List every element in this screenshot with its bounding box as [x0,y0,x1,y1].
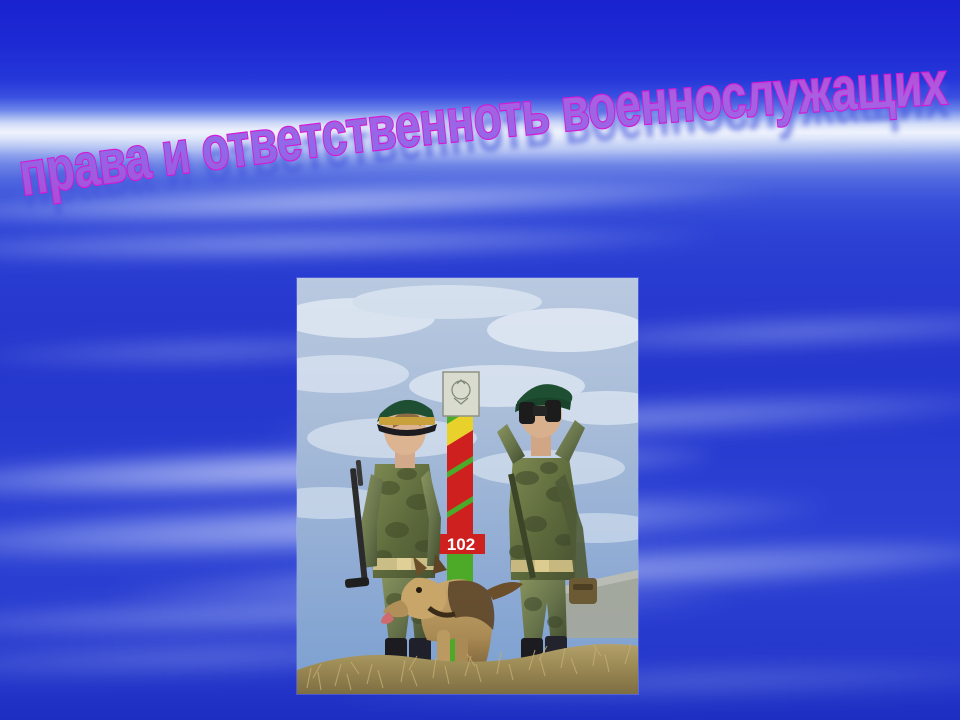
presentation-slide: права и ответственноть военнослужащих пр… [0,0,960,720]
cap-band [379,417,435,425]
pouch [569,578,597,604]
border-guards-photo: 102 [297,278,638,694]
post-number: 102 [447,535,475,554]
photo-illustration: 102 [297,278,638,694]
